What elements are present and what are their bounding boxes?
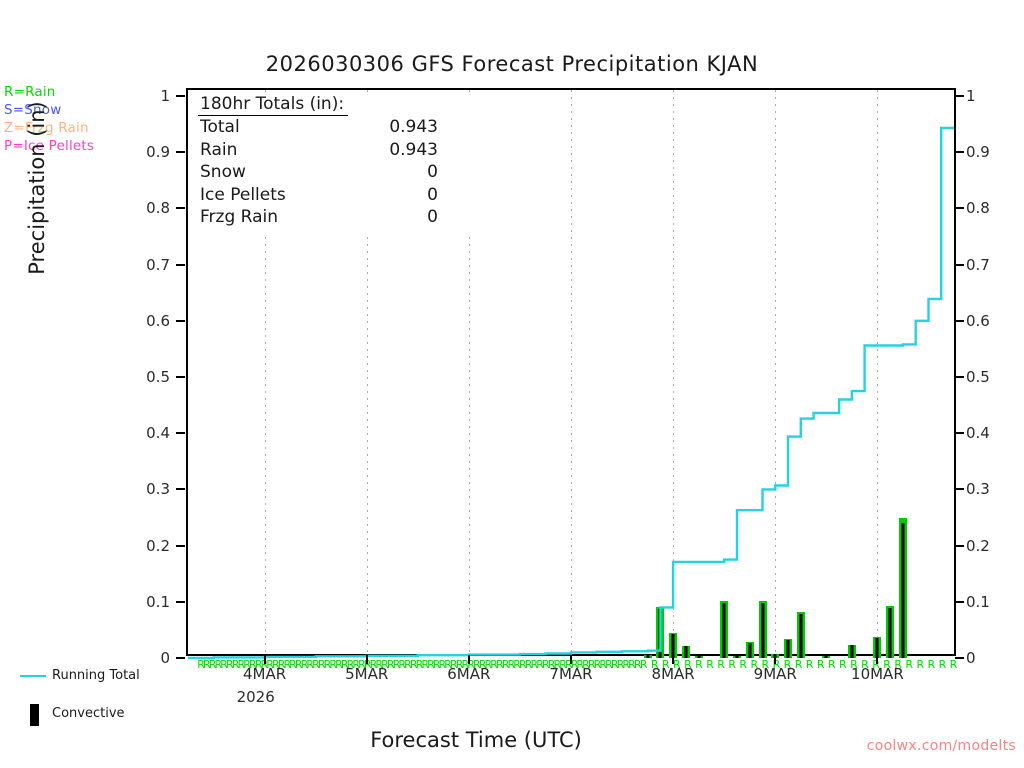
x-axis-tick <box>264 655 266 664</box>
y-axis-tick <box>176 657 185 659</box>
y-axis-label: 0.7 <box>108 256 170 274</box>
watermark: coolwx.com/modelts <box>867 738 1016 754</box>
legend-item-label: Running Total <box>52 668 140 683</box>
totals-header: 180hr Totals (in): <box>198 94 348 116</box>
chart-page: 2026030306 GFS Forecast Precipitation KJ… <box>0 0 1024 768</box>
plot-inner: RRRRRRRRRRRRRRRRRRRRRRRRRRRRRRRRRRRRRRRR… <box>188 90 954 654</box>
y-axis-tick <box>176 207 185 209</box>
y-axis-label: 0.6 <box>966 312 1024 330</box>
y-axis-tick <box>955 95 964 97</box>
ptype-marker-rain: R <box>939 659 947 670</box>
y-axis-label: 0.7 <box>966 256 1024 274</box>
x-axis-tick <box>468 655 470 664</box>
x-axis-label: 7MAR <box>521 665 621 683</box>
totals-row-value: 0.943 <box>348 117 438 137</box>
y-axis-tick <box>176 601 185 603</box>
x-axis-label: 6MAR <box>419 665 519 683</box>
y-axis-label: 0.4 <box>966 424 1024 442</box>
y-axis-title: Precipitation (in) <box>25 58 49 318</box>
y-axis-label: 1 <box>966 87 1024 105</box>
x-axis-year-label: 2026 <box>237 688 275 706</box>
totals-row-label: Ice Pellets <box>200 185 286 205</box>
totals-row-value: 0.943 <box>348 140 438 160</box>
y-axis-tick <box>176 376 185 378</box>
y-axis-tick <box>955 545 964 547</box>
ptype-marker-rain: R <box>950 659 958 670</box>
totals-row: Total0.943 <box>198 117 486 140</box>
y-axis-label: 0.9 <box>966 143 1024 161</box>
legend-bar-swatch <box>30 704 39 726</box>
y-axis-label: 0.6 <box>108 312 170 330</box>
y-axis-tick <box>176 488 185 490</box>
totals-row-value: 0 <box>348 207 438 227</box>
totals-row-label: Rain <box>200 140 237 160</box>
y-axis-label: 0 <box>966 649 1024 667</box>
y-axis-label: 1 <box>108 87 170 105</box>
totals-row: Rain0.943 <box>198 140 486 163</box>
totals-row-value: 0 <box>348 185 438 205</box>
y-axis-tick <box>955 376 964 378</box>
x-axis-title: Forecast Time (UTC) <box>186 728 766 752</box>
y-axis-label: 0.3 <box>108 480 170 498</box>
ptype-legend-frzg-rain: Z=Frzg Rain <box>4 119 94 137</box>
x-axis-label: 10MAR <box>827 665 927 683</box>
y-axis-label: 0.8 <box>108 199 170 217</box>
totals-row-label: Total <box>200 117 240 137</box>
y-axis-tick <box>955 657 964 659</box>
totals-row-label: Snow <box>200 162 246 182</box>
x-axis-label: 8MAR <box>623 665 723 683</box>
y-axis-label: 0.2 <box>966 537 1024 555</box>
x-axis-label: 9MAR <box>725 665 825 683</box>
y-axis-label: 0.1 <box>966 593 1024 611</box>
y-axis-label: 0.1 <box>108 593 170 611</box>
y-axis-label: 0.4 <box>108 424 170 442</box>
y-axis-label: 0.2 <box>108 537 170 555</box>
y-axis-tick <box>955 601 964 603</box>
y-axis-tick <box>176 432 185 434</box>
legend-line-swatch <box>20 675 46 677</box>
y-axis-tick <box>955 151 964 153</box>
y-axis-tick <box>176 320 185 322</box>
y-axis-tick <box>955 320 964 322</box>
x-axis-tick <box>876 655 878 664</box>
y-axis-tick <box>176 151 185 153</box>
x-axis-tick <box>774 655 776 664</box>
y-axis-tick <box>176 95 185 97</box>
y-axis-tick <box>176 545 185 547</box>
y-axis-tick <box>955 264 964 266</box>
legend-item-label: Convective <box>52 706 125 721</box>
ptype-marker-rain: R <box>928 659 936 670</box>
precip-type-legend: R=RainS=SnowZ=Frzg RainP=Ice Pellets <box>4 83 94 155</box>
y-axis-label: 0.8 <box>966 199 1024 217</box>
ptype-legend-rain: R=Rain <box>4 83 94 101</box>
ptype-legend-ice-pellets: P=Ice Pellets <box>4 137 94 155</box>
ptype-legend-snow: S=Snow <box>4 101 94 119</box>
totals-row-value: 0 <box>348 162 438 182</box>
chart-title: 2026030306 GFS Forecast Precipitation KJ… <box>0 52 1024 76</box>
totals-row: Frzg Rain0 <box>198 207 486 230</box>
y-axis-tick <box>955 207 964 209</box>
totals-row: Snow0 <box>198 162 486 185</box>
totals-row: Ice Pellets0 <box>198 185 486 208</box>
y-axis-label: 0.9 <box>108 143 170 161</box>
x-axis-label: 4MAR <box>215 665 315 683</box>
y-axis-label: 0.3 <box>966 480 1024 498</box>
x-axis-tick <box>672 655 674 664</box>
y-axis-tick <box>176 264 185 266</box>
totals-row-label: Frzg Rain <box>200 207 278 227</box>
x-axis-label: 5MAR <box>317 665 417 683</box>
x-axis-tick <box>366 655 368 664</box>
plot-area: RRRRRRRRRRRRRRRRRRRRRRRRRRRRRRRRRRRRRRRR… <box>186 88 956 656</box>
x-axis-tick <box>570 655 572 664</box>
y-axis-label: 0.5 <box>108 368 170 386</box>
y-axis-label: 0 <box>108 649 170 667</box>
y-axis-tick <box>955 488 964 490</box>
y-axis-label: 0.5 <box>966 368 1024 386</box>
y-axis-tick <box>955 432 964 434</box>
totals-box: 180hr Totals (in): Total0.943Rain0.943Sn… <box>190 92 490 234</box>
